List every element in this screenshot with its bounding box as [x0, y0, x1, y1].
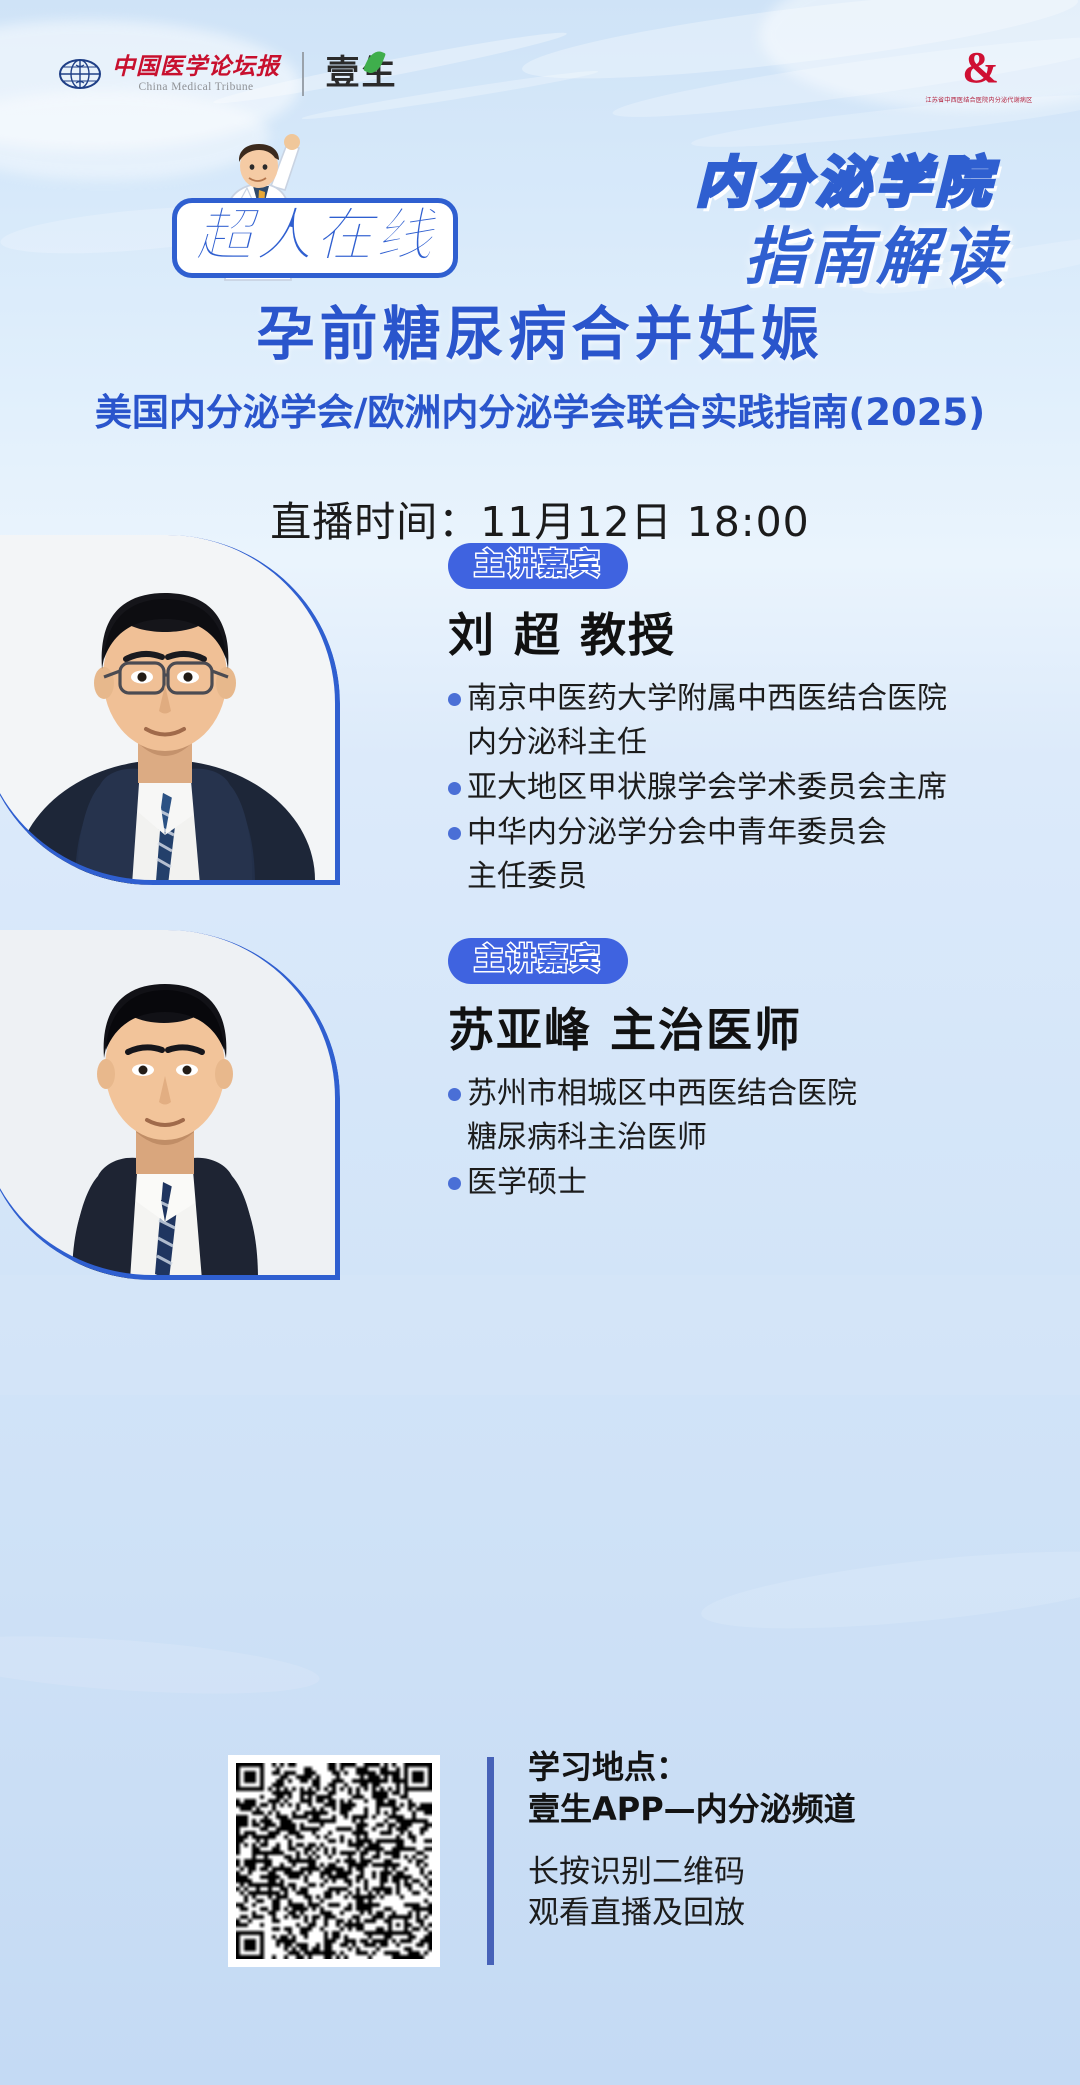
bullet-text: 亚大地区甲状腺学会学术委员会主席 — [467, 767, 947, 810]
action-line-2: 观看直播及回放 — [528, 1893, 1028, 1934]
qr-code[interactable] — [228, 1755, 440, 1967]
bullet-dot-icon — [448, 1088, 461, 1101]
cmt-brand-en: China Medical Tribune — [138, 81, 253, 93]
hero-title-line2: 指南解读 — [744, 206, 1008, 296]
speaker-1-portrait — [0, 535, 340, 885]
bullet-text: 内分泌科主任 — [467, 722, 647, 765]
list-item: 糖尿病科主治医师 — [448, 1117, 1048, 1160]
hero-badge-text: 超人在线 — [195, 206, 435, 264]
avatar — [0, 930, 340, 1280]
hero-banner: 超人在线 内分泌学院 指南解读 — [0, 120, 1080, 430]
header: 中国医学论坛报 China Medical Tribune 壹生 & 江苏省中西… — [0, 0, 1080, 130]
bullet-dot-icon — [448, 737, 461, 750]
yisheng-brand-text: 壹生 — [326, 55, 398, 92]
list-item: 苏州市相城区中西医结合医院 — [448, 1073, 1048, 1116]
vertical-divider — [487, 1757, 494, 1965]
qr-footer: 学习地点： 壹生APP—内分泌频道 长按识别二维码 观看直播及回放 — [0, 1755, 1080, 2015]
avatar — [0, 535, 340, 885]
bullet-dot-icon — [448, 827, 461, 840]
bullet-text: 医学硕士 — [467, 1162, 587, 1205]
logo-divider — [302, 52, 304, 96]
speaker-2-info: 主讲嘉宾 苏亚峰 主治医师 苏州市相城区中西医结合医院 糖尿病科主治医师 医学硕… — [448, 938, 1048, 1207]
cmt-brand-cn: 中国医学论坛报 — [112, 55, 280, 79]
action-line-1: 长按识别二维码 — [528, 1852, 1028, 1893]
hospital-logo[interactable]: & 江苏省中西医结合医院内分泌代谢病区 — [922, 46, 1036, 104]
list-item: 主任委员 — [448, 856, 1048, 899]
list-item: 医学硕士 — [448, 1162, 1048, 1205]
qr-instructions: 学习地点： 壹生APP—内分泌频道 长按识别二维码 观看直播及回放 — [528, 1747, 1028, 1934]
bullet-dot-icon — [448, 693, 461, 706]
bullet-text: 苏州市相城区中西医结合医院 — [467, 1073, 857, 1116]
list-item: 内分泌科主任 — [448, 722, 1048, 765]
bullet-text: 中华内分泌学分会中青年委员会 — [467, 812, 887, 855]
globe-icon — [58, 58, 102, 90]
speaker-1-tag: 主讲嘉宾 — [448, 543, 628, 589]
location-label: 学习地点： — [528, 1747, 1028, 1789]
speaker-1-name: 刘 超 教授 — [448, 609, 1048, 662]
bullet-dot-icon — [448, 1132, 461, 1145]
broadcast-time: 直播时间：11月12日 18:00 — [0, 488, 1080, 548]
ampersand-icon: & — [962, 46, 996, 90]
list-item: 亚大地区甲状腺学会学术委员会主席 — [448, 767, 1048, 810]
speaker-card: 主讲嘉宾 刘 超 教授 南京中医药大学附属中西医结合医院 内分泌科主任 亚大地区… — [0, 535, 1080, 915]
bullet-dot-icon — [448, 871, 461, 884]
bullet-text: 南京中医药大学附属中西医结合医院 — [467, 678, 947, 721]
list-item: 中华内分泌学分会中青年委员会 — [448, 812, 1048, 855]
speaker-1-bullets: 南京中医药大学附属中西医结合医院 内分泌科主任 亚大地区甲状腺学会学术委员会主席… — [448, 678, 1048, 899]
bullet-text: 主任委员 — [467, 856, 587, 899]
speaker-2-portrait — [0, 930, 340, 1280]
list-item: 南京中医药大学附属中西医结合医院 — [448, 678, 1048, 721]
hero-badge: 超人在线 — [172, 198, 458, 278]
yisheng-brand[interactable]: 壹生 — [326, 57, 398, 91]
cmt-logo[interactable]: 中国医学论坛报 China Medical Tribune 壹生 — [58, 52, 398, 96]
speaker-2-tag: 主讲嘉宾 — [448, 938, 628, 984]
bullet-dot-icon — [448, 1177, 461, 1190]
speaker-2-name: 苏亚峰 主治医师 — [448, 1004, 1048, 1057]
speaker-card: 主讲嘉宾 苏亚峰 主治医师 苏州市相城区中西医结合医院 糖尿病科主治医师 医学硕… — [0, 930, 1080, 1260]
location-value: 壹生APP—内分泌频道 — [528, 1789, 1028, 1831]
speaker-2-bullets: 苏州市相城区中西医结合医院 糖尿病科主治医师 医学硕士 — [448, 1073, 1048, 1205]
qr-code-image — [236, 1763, 432, 1959]
poster-canvas: 中国医学论坛报 China Medical Tribune 壹生 & 江苏省中西… — [0, 0, 1080, 2085]
bullet-dot-icon — [448, 782, 461, 795]
bullet-text: 糖尿病科主治医师 — [467, 1117, 707, 1160]
speaker-1-info: 主讲嘉宾 刘 超 教授 南京中医药大学附属中西医结合医院 内分泌科主任 亚大地区… — [448, 543, 1048, 901]
hospital-name: 江苏省中西医结合医院内分泌代谢病区 — [926, 94, 1033, 103]
